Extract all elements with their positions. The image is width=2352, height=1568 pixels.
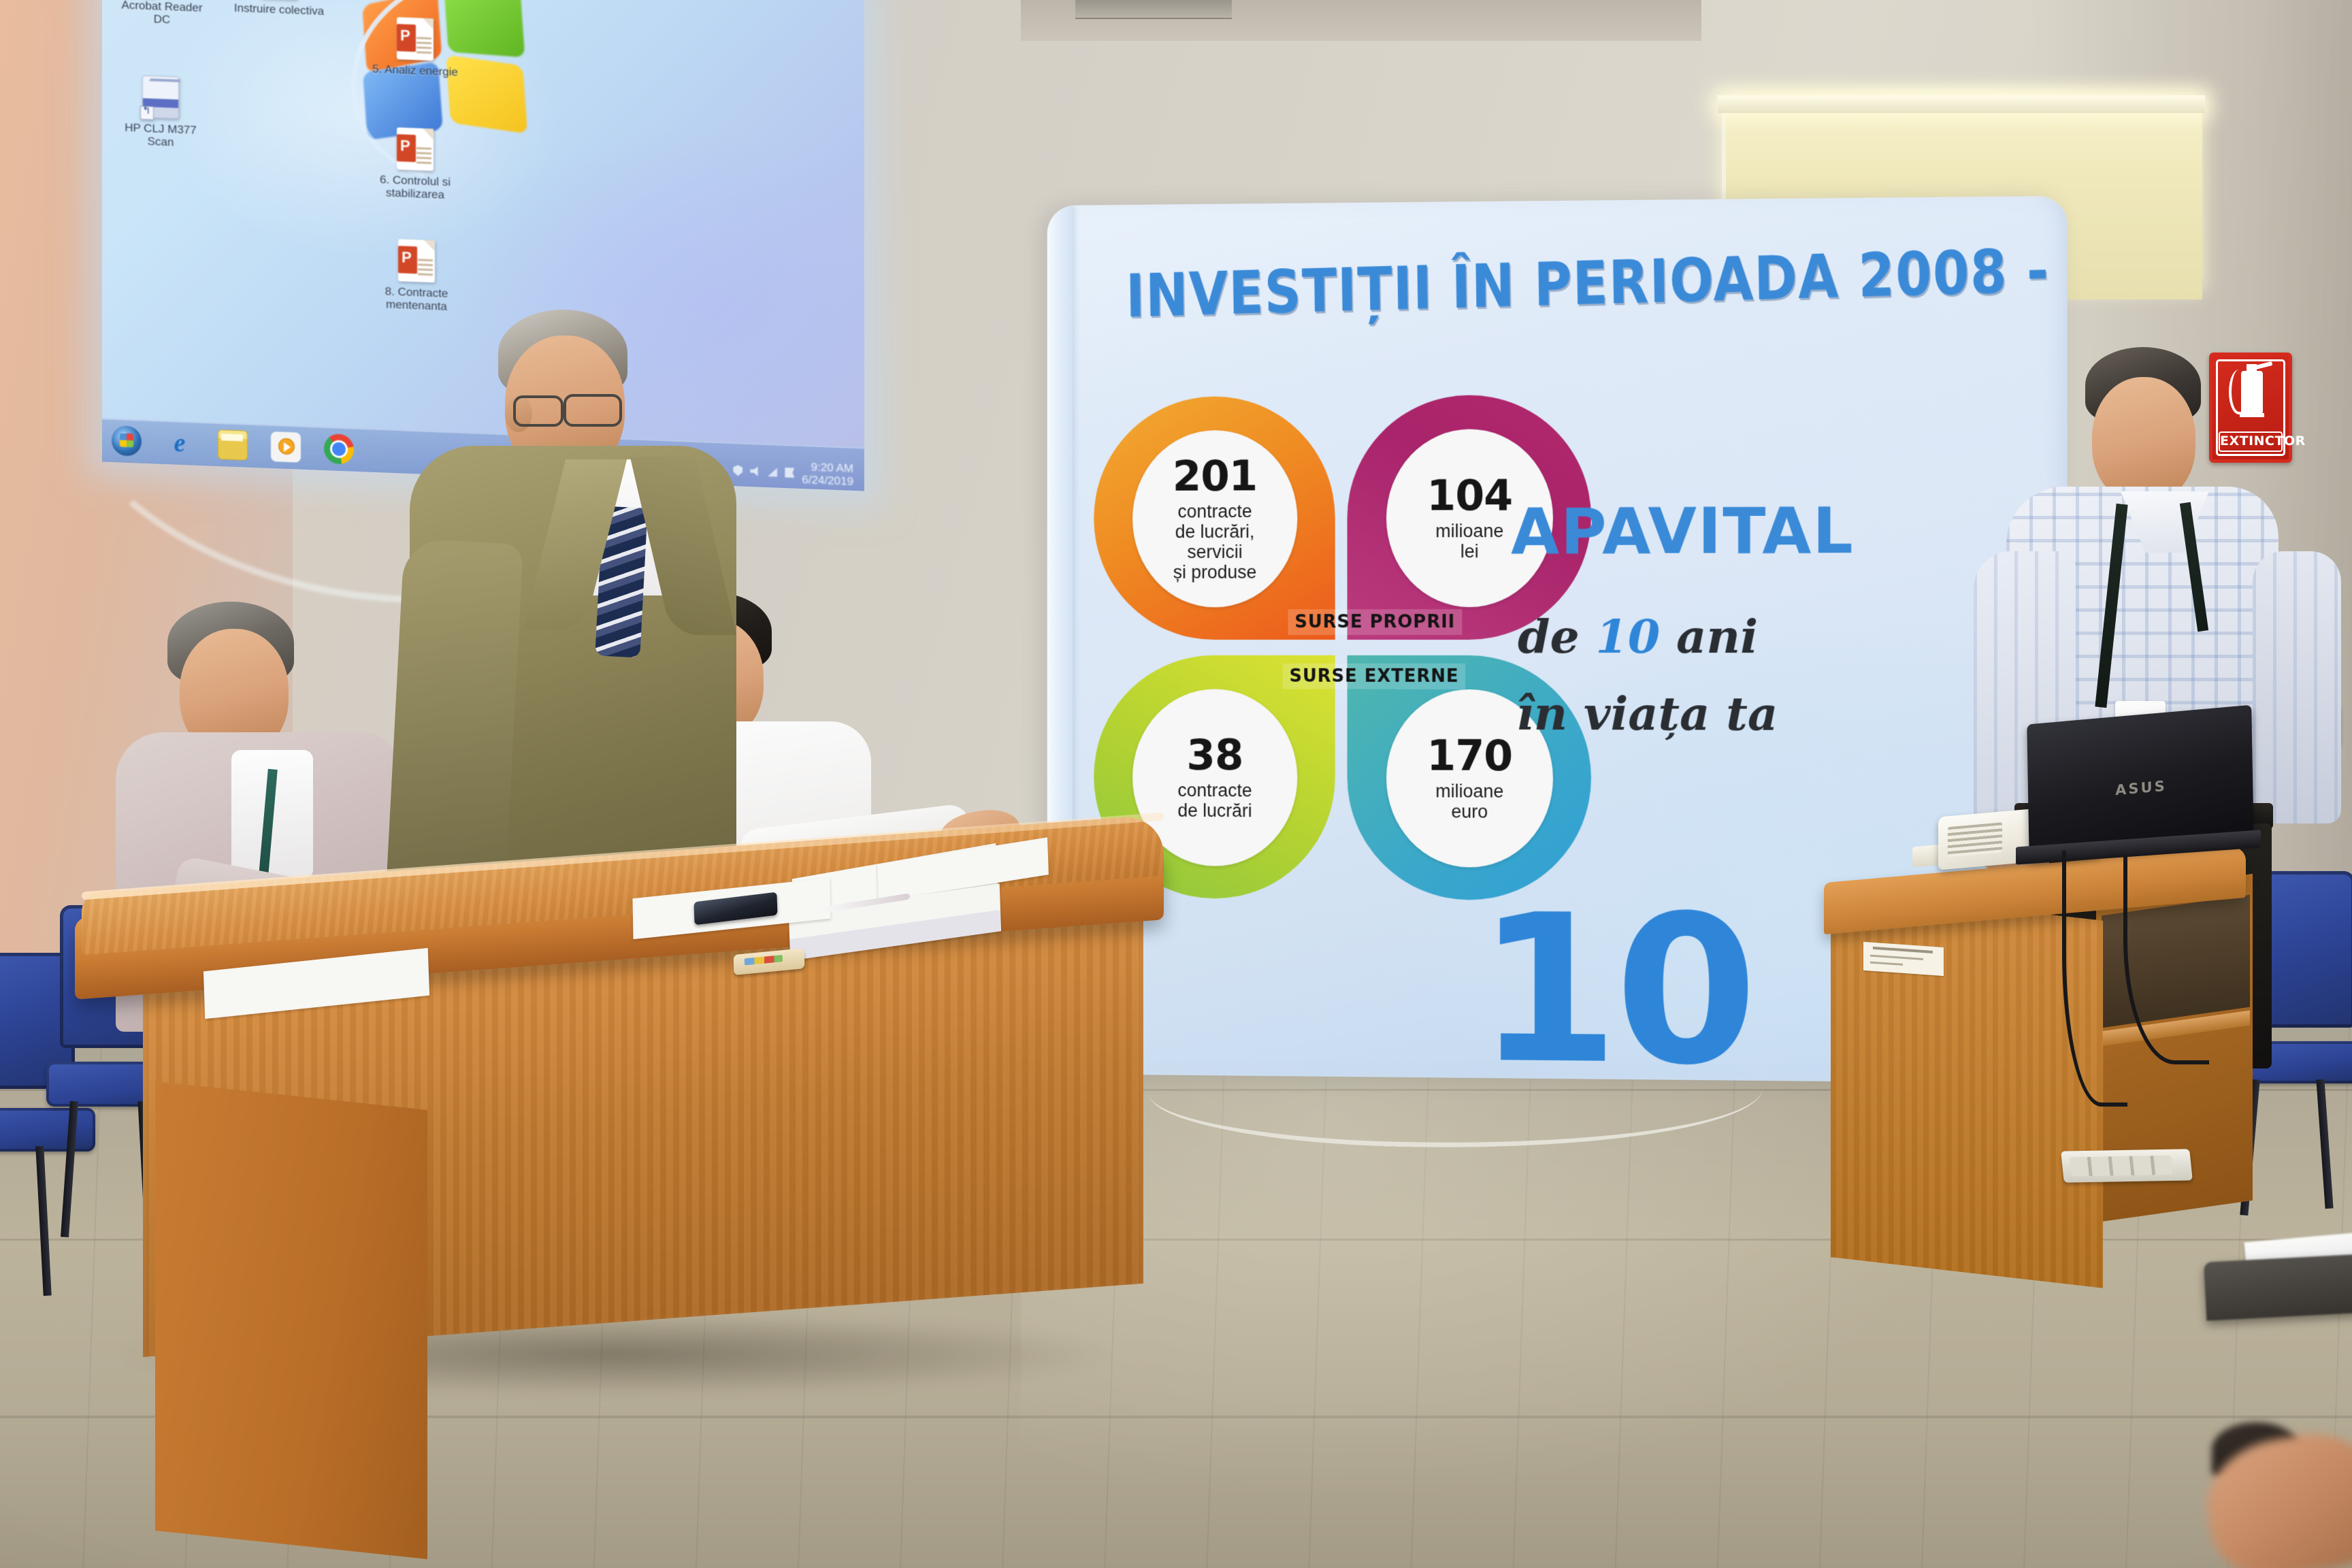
scanner-shortcut-icon [142, 76, 179, 119]
system-tray[interactable]: 9:20 AM 6/24/2019 [717, 457, 853, 488]
laptop-brand-logo: ASUS [2115, 778, 2167, 799]
fire-extinguisher-sign: EXTINCTOR [2209, 353, 2292, 463]
tagline-number: 10 [1595, 610, 1660, 664]
stat-value: 201 [1173, 455, 1257, 497]
stat-caption: milioane lei [1435, 521, 1503, 561]
taskbar-clock[interactable]: 9:20 AM 6/24/2019 [802, 460, 853, 488]
arm [2253, 551, 2341, 823]
projector-vent [1948, 822, 2002, 857]
chrome-icon[interactable] [324, 434, 354, 465]
projected-desktop-screen: Acrobat Reader DC Instruire colectiva HP… [102, 0, 864, 491]
desk-inventory-label [1863, 942, 1944, 976]
conference-room-photo: Acrobat Reader DC Instruire colectiva HP… [0, 0, 2352, 1568]
stat-value: 170 [1426, 735, 1512, 777]
head [2092, 377, 2195, 502]
extinguisher-base-icon [2240, 413, 2264, 417]
powerpoint-icon [397, 127, 434, 171]
extinguisher-sign-label: EXTINCTOR [2219, 431, 2283, 452]
action-center-flag-icon[interactable] [785, 468, 794, 478]
network-icon[interactable] [768, 468, 777, 477]
desktop-icon[interactable]: 6. Controlul si stabilizarea [367, 126, 463, 201]
desktop-icon[interactable]: Acrobat Reader DC [114, 0, 210, 28]
desktop-icon-label: 6. Controlul si stabilizarea [367, 172, 463, 201]
source-tag-external: SURSE EXTERNE [1283, 664, 1466, 689]
windows-start-icon[interactable] [112, 425, 142, 457]
stat-circle-contracts: 201 contracte de lucrări, servicii și pr… [1094, 396, 1335, 640]
source-tag-own: SURSE PROPRII [1288, 609, 1463, 635]
banner-brand-name: APAVITAL [1511, 500, 1854, 564]
banner-tagline-line2: în viața ta [1516, 689, 1778, 739]
extinguisher-body-icon [2241, 371, 2263, 413]
main-table-side-panel [155, 1081, 427, 1559]
stat-caption: contracte de lucrări [1177, 780, 1252, 821]
desktop-icon-label: HP CLJ M377 Scan [113, 120, 208, 150]
clock-time: 9:20 AM [811, 461, 853, 475]
window-blind-rail [1718, 95, 2205, 113]
desktop-icon[interactable]: HP CLJ M377 Scan [113, 74, 208, 150]
arm [385, 538, 523, 911]
clock-date: 6/24/2019 [802, 473, 853, 488]
glasses [513, 391, 627, 424]
folder-icon[interactable] [218, 429, 248, 461]
power-strip[interactable] [2061, 1149, 2193, 1182]
internet-explorer-icon[interactable]: e [165, 427, 195, 459]
stat-circle-inner: 201 contracte de lucrări, servicii și pr… [1132, 430, 1297, 608]
stat-value: 104 [1426, 474, 1512, 517]
banner-tagline-line1: de 10 ani [1518, 612, 1758, 661]
media-player-icon[interactable] [271, 431, 301, 463]
volume-icon[interactable] [750, 466, 760, 476]
powerpoint-icon [397, 17, 434, 61]
desktop-icon-label: 8. Contracte mentenanta [369, 284, 464, 314]
chair-seat [0, 1108, 95, 1151]
remote-buttons[interactable] [745, 955, 783, 965]
stat-value: 38 [1187, 734, 1243, 777]
desktop-icon[interactable]: 8. Contracte mentenanta [369, 238, 464, 314]
shield-icon[interactable] [733, 465, 742, 476]
banner-title: INVESTIȚII ÎN PERIOADA 2008 - 2018 [1126, 244, 1874, 328]
desktop-icon[interactable]: 5. Analiz energie [367, 16, 463, 78]
desktop-icon-label: Acrobat Reader DC [114, 0, 210, 28]
foreground-dark-table [2204, 1253, 2352, 1320]
powerpoint-icon [398, 239, 435, 282]
stat-caption: contracte de lucrări, servicii și produs… [1173, 501, 1257, 582]
power-strip-sockets [2070, 1156, 2173, 1177]
ceiling-vent [1075, 0, 1232, 19]
stat-caption: milioane euro [1435, 781, 1503, 821]
